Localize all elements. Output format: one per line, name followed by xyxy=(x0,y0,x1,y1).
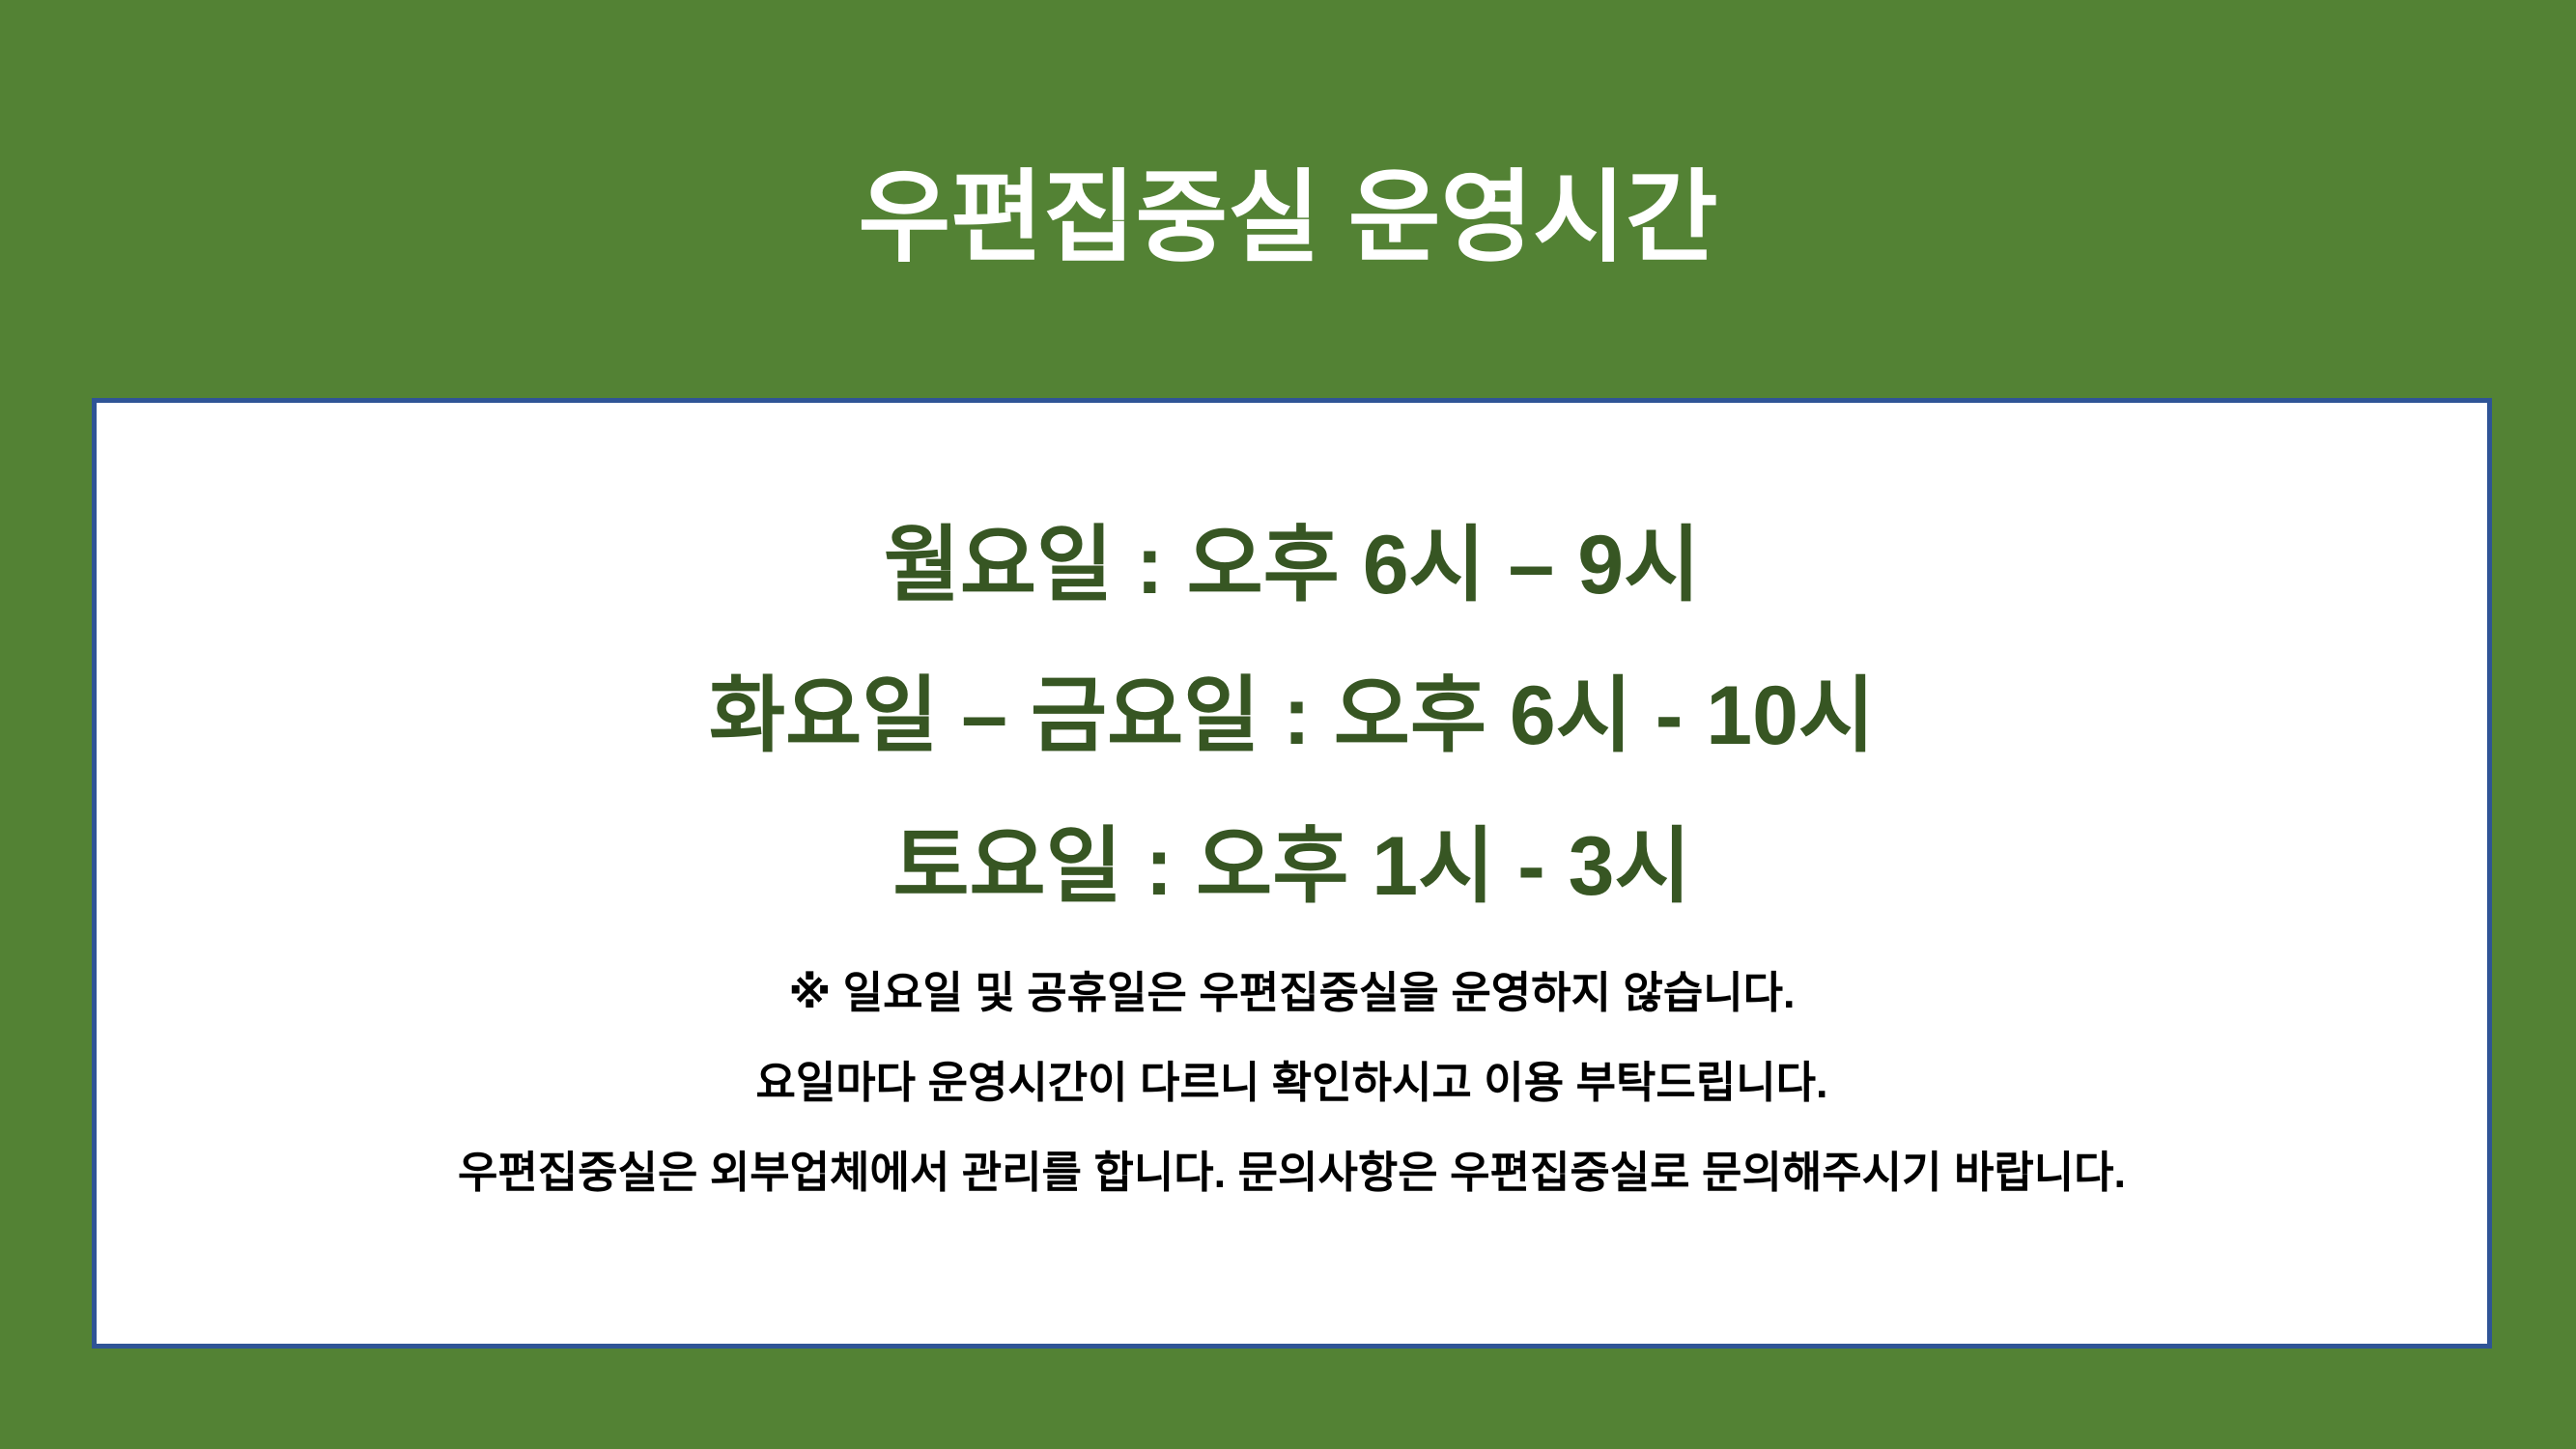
hours-line-monday: 월요일 : 오후 6시 – 9시 xyxy=(97,524,2487,607)
page-title: 우편집중실 운영시간 xyxy=(0,162,2576,274)
note-external-management-contact: 우편집중실은 외부업체에서 관리를 합니다. 문의사항은 우편집중실로 문의해주… xyxy=(97,1151,2487,1194)
notes-list: ※ 일요일 및 공휴일은 우편집중실을 운영하지 않습니다. 요일마다 운영시간… xyxy=(97,971,2487,1194)
poster-root: 우편집중실 운영시간 월요일 : 오후 6시 – 9시 화요일 – 금요일 : … xyxy=(0,0,2576,1449)
hours-line-saturday: 토요일 : 오후 1시 - 3시 xyxy=(97,825,2487,908)
operating-hours-list: 월요일 : 오후 6시 – 9시 화요일 – 금요일 : 오후 6시 - 10시… xyxy=(97,524,2487,908)
hours-card: 월요일 : 오후 6시 – 9시 화요일 – 금요일 : 오후 6시 - 10시… xyxy=(92,398,2492,1349)
note-closed-sundays-holidays: ※ 일요일 및 공휴일은 우편집중실을 운영하지 않습니다. xyxy=(97,971,2487,1014)
note-check-hours-per-day: 요일마다 운영시간이 다르니 확인하시고 이용 부탁드립니다. xyxy=(97,1061,2487,1104)
hours-line-tuesday-friday: 화요일 – 금요일 : 오후 6시 - 10시 xyxy=(97,674,2487,757)
